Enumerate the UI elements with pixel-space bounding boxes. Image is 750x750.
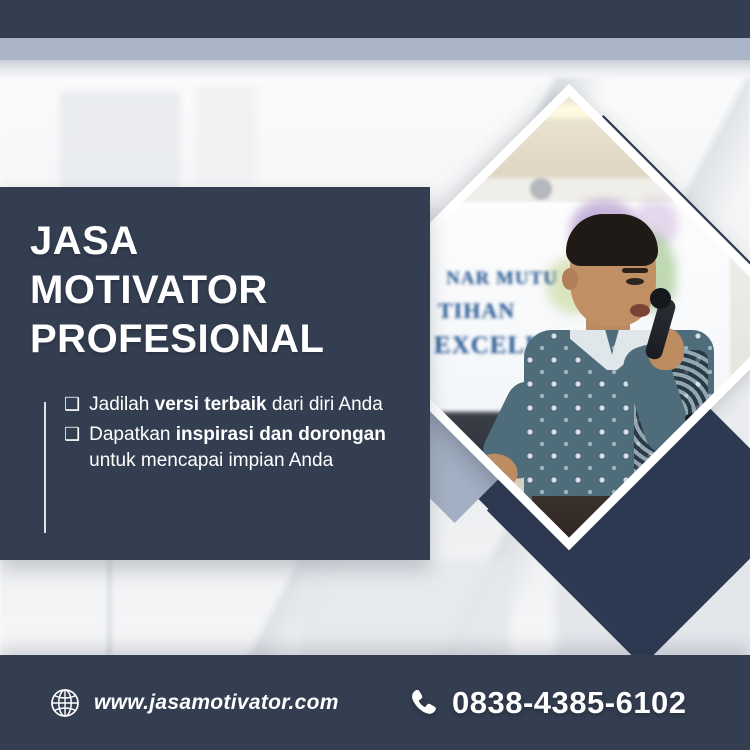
top-navy-bar [0, 0, 750, 38]
globe-icon [50, 688, 80, 718]
list-item-text: Dapatkan inspirasi dan dorongan untuk me… [89, 422, 394, 474]
content-panel: JASA MOTIVATOR PROFESIONAL ❑ Jadilah ver… [0, 187, 430, 560]
text-run-bold: inspirasi dan dorongan [176, 424, 386, 445]
list-item: ❑ Dapatkan inspirasi dan dorongan untuk … [64, 422, 394, 474]
phone-number[interactable]: 0838-4385-6102 [452, 685, 687, 721]
list-item: ❑ Jadilah versi terbaik dari diri Anda [64, 392, 394, 418]
background-block [300, 560, 510, 660]
phone-contact[interactable]: 0838-4385-6102 [408, 685, 687, 721]
accent-divider [44, 402, 46, 533]
text-run: dari diri Anda [272, 394, 383, 415]
headline-line-3: PROFESIONAL [30, 315, 324, 364]
page-title: JASA MOTIVATOR PROFESIONAL [30, 217, 324, 363]
benefit-list: ❑ Jadilah versi terbaik dari diri Anda ❑… [64, 392, 394, 479]
text-run-bold: versi terbaik [155, 394, 272, 415]
website-contact[interactable]: www.jasamotivator.com [50, 688, 339, 718]
checkbox-square-icon: ❑ [64, 422, 80, 474]
footer-bar: www.jasamotivator.com 0838-4385-6102 [0, 655, 750, 750]
phone-icon [408, 687, 440, 719]
background-divider [108, 560, 111, 656]
checkbox-square-icon: ❑ [64, 392, 80, 418]
text-run: Dapatkan [89, 424, 176, 445]
text-run: untuk mencapai impian Anda [89, 450, 333, 471]
backdrop-text-line: NAR MUTU [446, 268, 558, 290]
text-run: Jadilah [89, 394, 155, 415]
headline-line-2: MOTIVATOR [30, 266, 324, 315]
website-url[interactable]: www.jasamotivator.com [94, 691, 339, 715]
list-item-text: Jadilah versi terbaik dari diri Anda [89, 392, 394, 418]
top-slate-band [0, 38, 750, 60]
promo-banner: NAR MUTU TIHAN EXCELLENC [0, 0, 750, 750]
backdrop-text-line: TIHAN [438, 298, 515, 324]
headline-line-1: JASA [30, 217, 324, 266]
